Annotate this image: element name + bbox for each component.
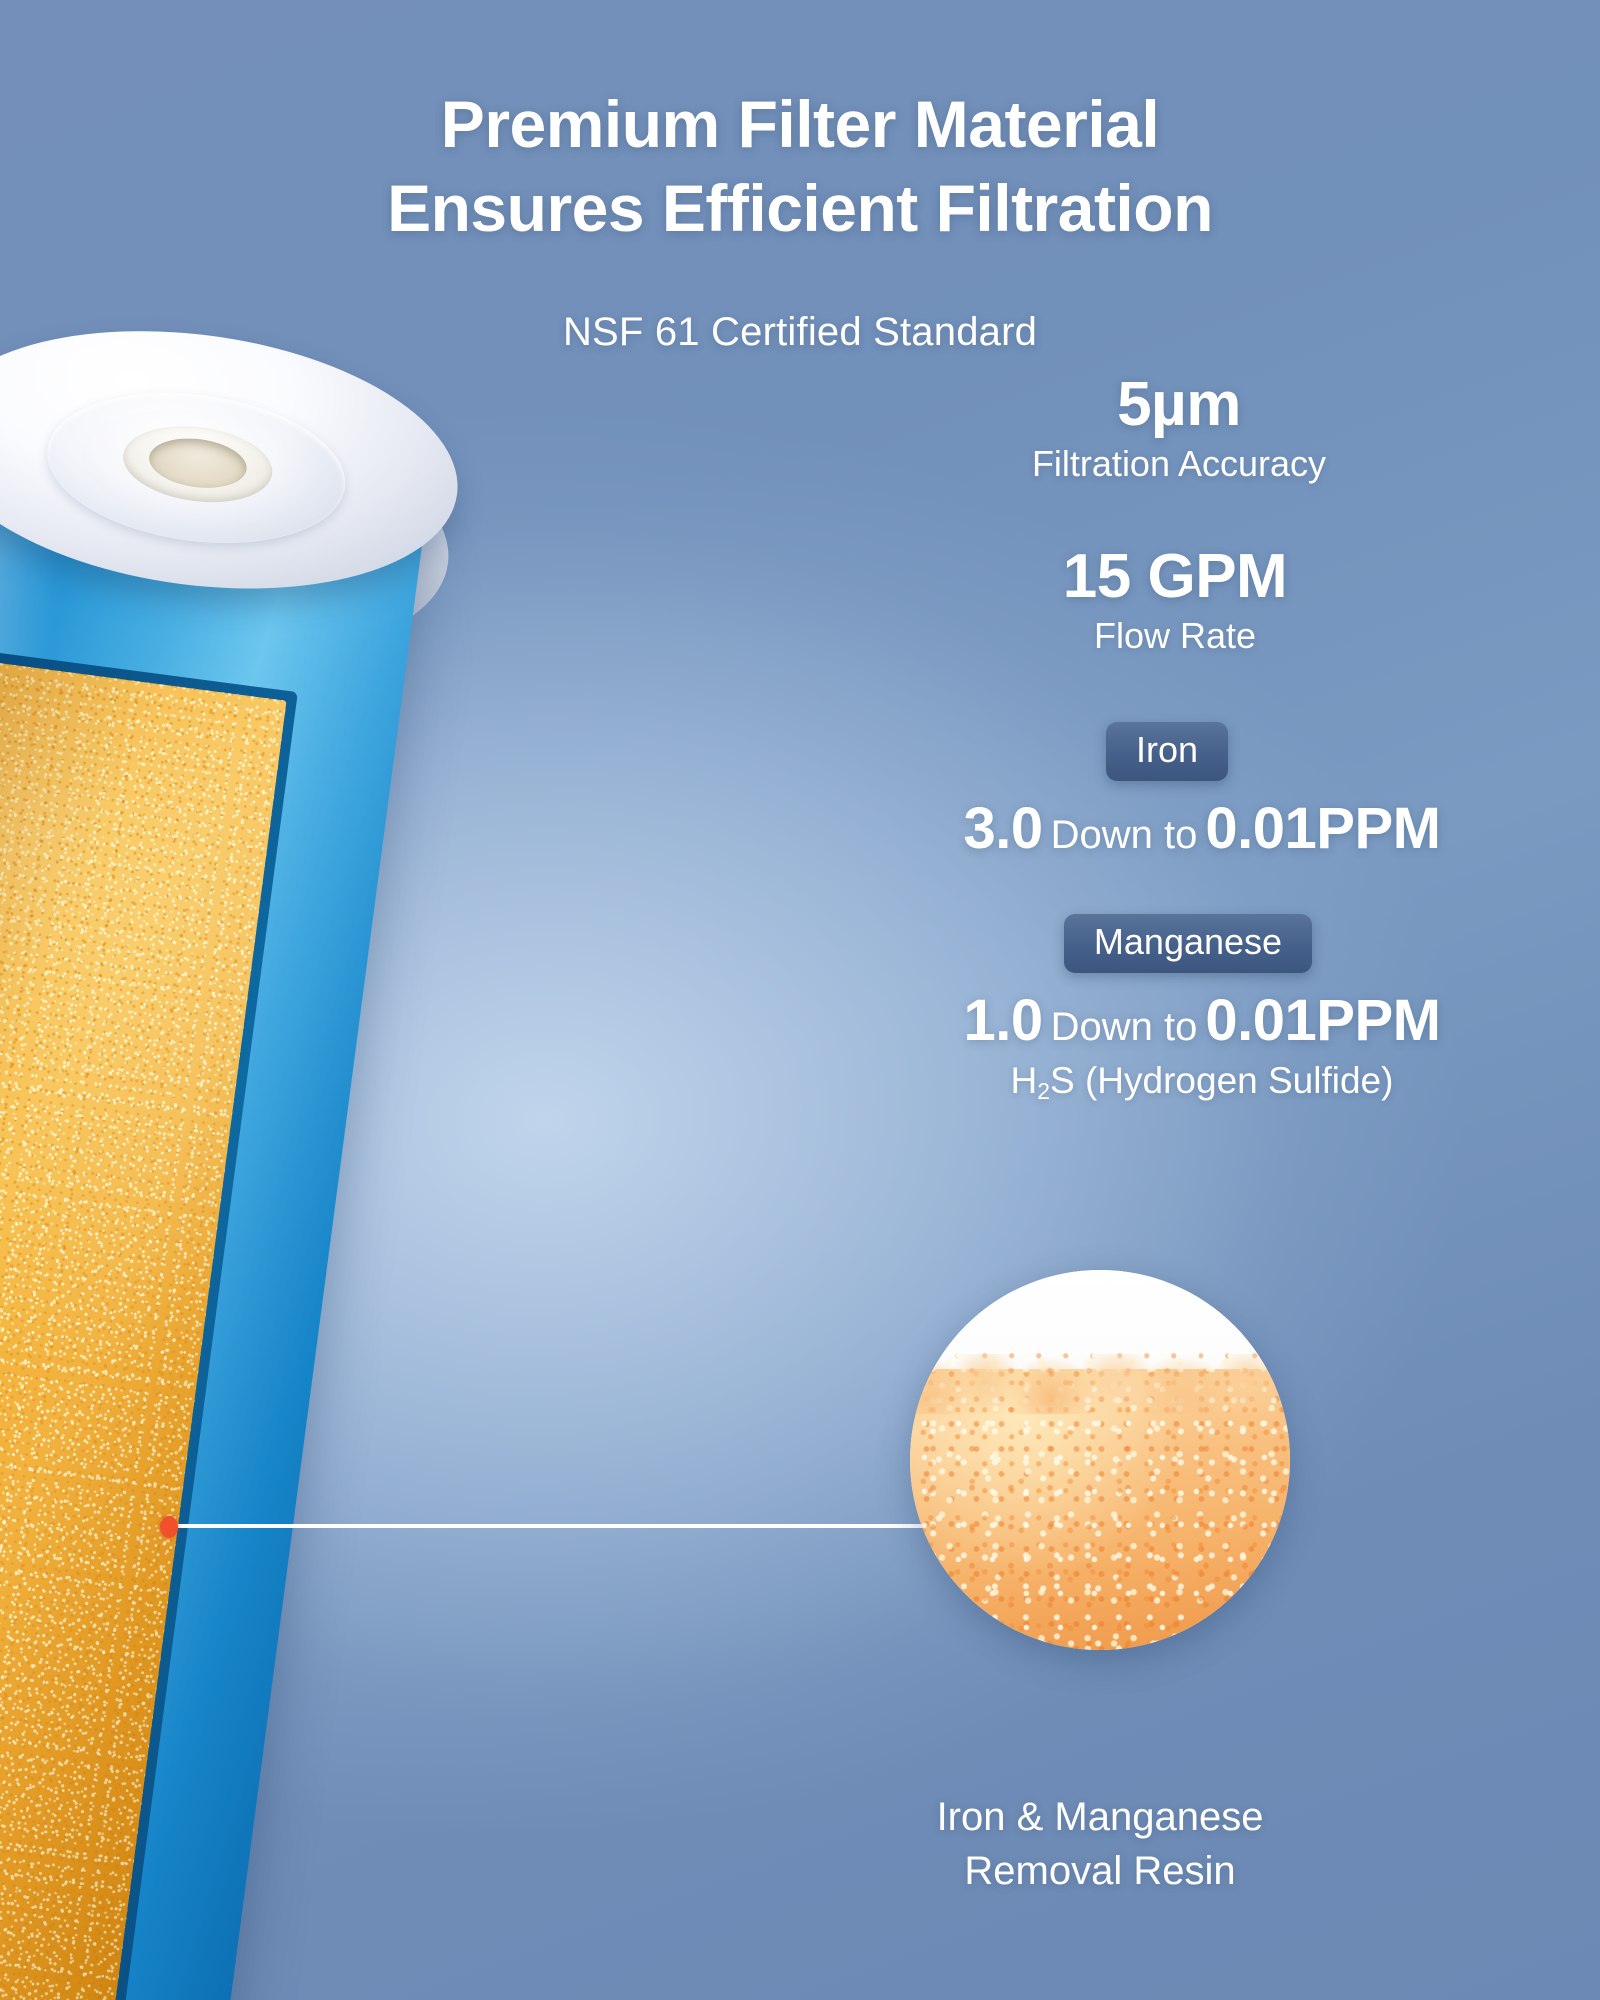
- status-badge-iron: Iron: [1106, 722, 1228, 781]
- iron-connector-text: Down to: [1043, 813, 1206, 857]
- manganese-connector-text: Down to: [1043, 1005, 1206, 1049]
- h2s-note: H2S (Hydrogen Sulfide): [882, 1060, 1522, 1102]
- manganese-reduction-row: 1.0Down to0.01PPM: [882, 987, 1522, 1054]
- headline-line-1: Premium Filter Material: [0, 82, 1600, 166]
- iron-from-value: 3.0: [964, 796, 1043, 861]
- filter-cartridge-image: [0, 330, 657, 2000]
- manganese-badge-row: Manganese: [882, 914, 1522, 973]
- contaminant-group-manganese: Manganese 1.0Down to0.01PPM H2S (Hydroge…: [882, 914, 1522, 1102]
- page-title: Premium Filter Material Ensures Efficien…: [0, 82, 1600, 251]
- manganese-to-value: 0.01PPM: [1205, 988, 1440, 1053]
- spec-filtration-accuracy: 5µm Filtration Accuracy: [882, 372, 1522, 486]
- resin-magnifier-circle: [910, 1270, 1290, 1650]
- filtration-accuracy-value: 5µm: [882, 372, 1476, 437]
- flow-rate-label: Flow Rate: [882, 613, 1468, 658]
- magnifier-caption: Iron & Manganese Removal Resin: [810, 1790, 1390, 1898]
- contaminant-group-iron: Iron 3.0Down to0.01PPM: [882, 722, 1522, 862]
- iron-to-value: 0.01PPM: [1205, 796, 1440, 861]
- magnifier-caption-line-1: Iron & Manganese: [810, 1790, 1390, 1844]
- iron-reduction-row: 3.0Down to0.01PPM: [882, 795, 1522, 862]
- spec-column: 5µm Filtration Accuracy 15 GPM Flow Rate…: [882, 372, 1522, 1102]
- certification-subtitle: NSF 61 Certified Standard: [0, 310, 1600, 355]
- h2s-prefix: H: [1011, 1060, 1038, 1101]
- h2s-suffix: S (Hydrogen Sulfide): [1050, 1060, 1393, 1101]
- magnifier-resin-crest: [910, 1354, 1290, 1415]
- magnifier-caption-line-2: Removal Resin: [810, 1844, 1390, 1898]
- headline-line-2: Ensures Efficient Filtration: [0, 166, 1600, 250]
- status-badge-manganese: Manganese: [1064, 914, 1312, 973]
- callout-marker-dot: [160, 1516, 178, 1538]
- filtration-accuracy-label: Filtration Accuracy: [882, 441, 1476, 486]
- h2s-subscript: 2: [1037, 1078, 1050, 1104]
- infographic-canvas: Premium Filter Material Ensures Efficien…: [0, 0, 1600, 2000]
- iron-badge-row: Iron: [882, 722, 1522, 781]
- flow-rate-value: 15 GPM: [882, 544, 1468, 609]
- manganese-from-value: 1.0: [964, 988, 1043, 1053]
- spec-flow-rate: 15 GPM Flow Rate: [882, 544, 1522, 658]
- callout-leader-line: [172, 1524, 932, 1528]
